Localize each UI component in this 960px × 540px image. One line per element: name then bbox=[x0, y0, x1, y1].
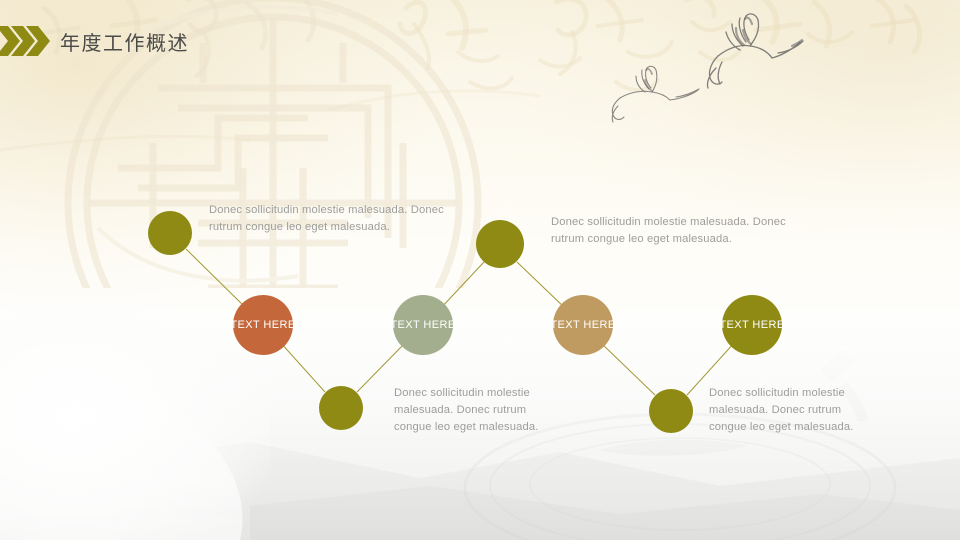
node-text-here-3[interactable]: TEXT HERE bbox=[553, 295, 613, 355]
node-step-1[interactable] bbox=[148, 211, 192, 255]
callout-top-right: Donec sollicitudin molestie malesuada. D… bbox=[551, 214, 791, 248]
node-label-2: TEXT HERE bbox=[390, 319, 455, 331]
node-text-here-2[interactable]: TEXT HERE bbox=[393, 295, 453, 355]
node-label-1: TEXT HERE bbox=[230, 319, 295, 331]
timeline-diagram: TEXT HERE TEXT HERE TEXT HERE TEXT HERE … bbox=[0, 0, 960, 540]
callout-bottom-left: Donec sollicitudin molestie malesuada. D… bbox=[394, 385, 546, 436]
node-text-here-4[interactable]: TEXT HERE bbox=[722, 295, 782, 355]
callout-top-left: Donec sollicitudin molestie malesuada. D… bbox=[209, 202, 449, 236]
node-step-3[interactable] bbox=[319, 386, 363, 430]
node-step-7[interactable] bbox=[649, 389, 693, 433]
node-text-here-1[interactable]: TEXT HERE bbox=[233, 295, 293, 355]
node-label-3: TEXT HERE bbox=[550, 319, 615, 331]
node-label-4: TEXT HERE bbox=[719, 319, 784, 331]
node-step-5[interactable] bbox=[476, 220, 524, 268]
callout-bottom-right: Donec sollicitudin molestie malesuada. D… bbox=[709, 385, 867, 436]
slide-root: 年度工作概述 TEXT HERE bbox=[0, 0, 960, 540]
timeline-connectors bbox=[0, 0, 960, 540]
